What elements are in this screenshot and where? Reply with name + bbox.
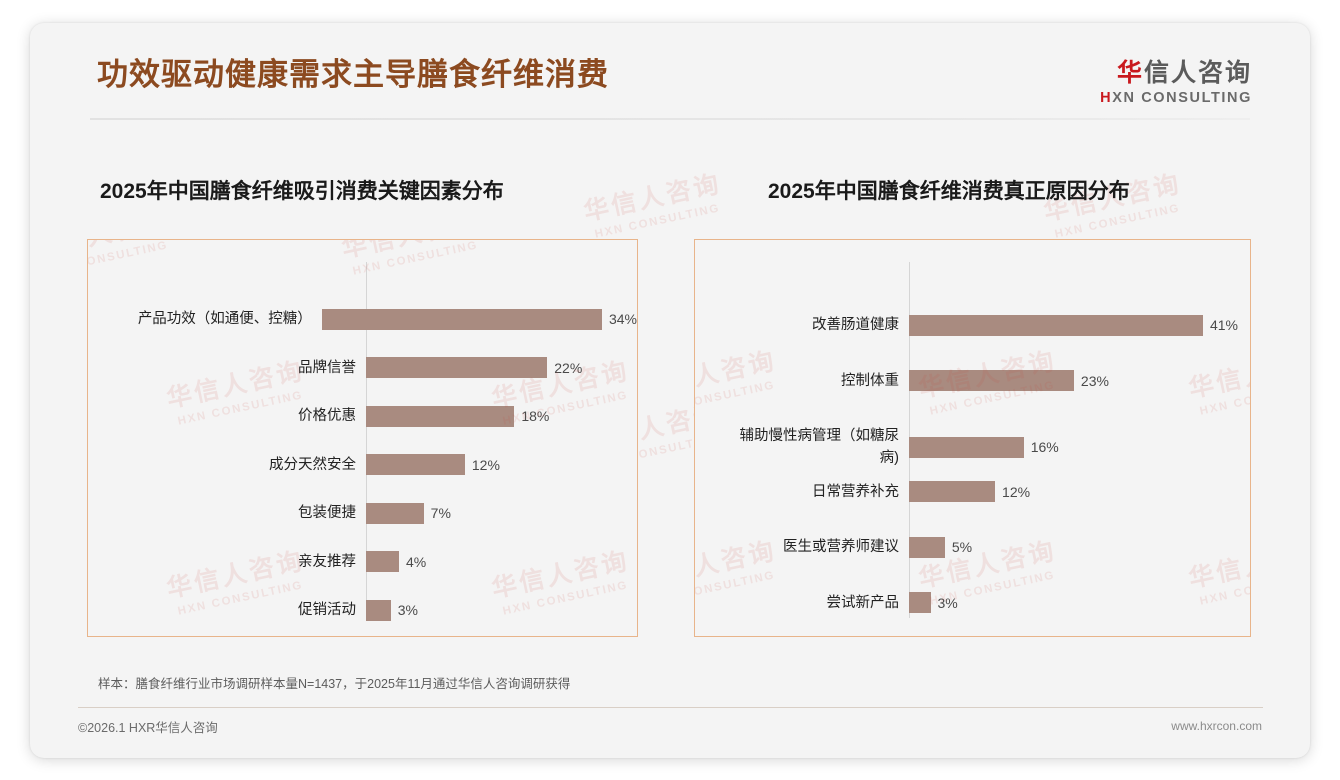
bar-track: 7% [366,503,637,524]
bar-chart-left: 产品功效（如通便、控糖）34%品牌信誉22%价格优惠18%成分天然安全12%包装… [88,240,637,636]
bar-track: 41% [909,315,1250,336]
bar-track: 5% [909,537,1250,558]
bar-value-label: 12% [472,457,500,473]
bar-row: 亲友推荐4% [88,551,637,573]
bar-value-label: 4% [406,554,426,570]
bar-value-label: 7% [431,505,451,521]
bar-segment [366,454,465,475]
bar-category-label: 价格优惠 [88,405,366,427]
bar-segment [909,315,1203,336]
bar-category-label: 辅助慢性病管理（如糖尿 病) [695,425,909,470]
bar-segment [366,600,391,621]
company-logo: 华信人咨询 HXN CONSULTING [1100,59,1252,106]
bar-row: 价格优惠18% [88,405,637,427]
bar-category-label: 成分天然安全 [88,454,366,476]
bar-row: 产品功效（如通便、控糖）34% [88,308,637,330]
bar-segment [366,357,547,378]
bar-track: 3% [909,592,1250,613]
footer-copyright: ©2026.1 HXR华信人咨询 [78,717,218,736]
bar-category-label: 尝试新产品 [695,592,909,614]
bar-category-label: 改善肠道健康 [695,314,909,336]
bar-row: 控制体重23% [695,370,1250,392]
bar-track: 22% [366,357,637,378]
bar-value-label: 3% [398,602,418,618]
bar-track: 4% [366,551,637,572]
chart-panel-right: 改善肠道健康41%控制体重23%辅助慢性病管理（如糖尿 病)16%日常营养补充1… [694,239,1251,637]
bar-category-label: 控制体重 [695,370,909,392]
watermark-chinese: 华信人咨询 [580,164,724,228]
bar-segment [366,551,399,572]
bar-row: 成分天然安全12% [88,454,637,476]
bar-segment [909,437,1024,458]
bar-row: 改善肠道健康41% [695,314,1250,336]
bar-value-label: 22% [554,360,582,376]
logo-cn-red: 华 [1117,59,1144,87]
bar-row: 促销活动3% [88,599,637,621]
bar-value-label: 16% [1031,439,1059,455]
bar-segment [366,503,424,524]
bar-category-label: 品牌信誉 [88,357,366,379]
bar-chart-right: 改善肠道健康41%控制体重23%辅助慢性病管理（如糖尿 病)16%日常营养补充1… [695,240,1250,636]
bar-row: 包装便捷7% [88,502,637,524]
bar-row: 品牌信誉22% [88,357,637,379]
bar-segment [366,406,514,427]
logo-english: HXN CONSULTING [1100,90,1252,106]
bar-value-label: 5% [952,539,972,555]
watermark: 华信人咨询HXN CONSULTING [580,164,727,242]
bar-track: 3% [366,600,637,621]
slide-header: 功效驱动健康需求主导膳食纤维消费 华信人咨询 HXN CONSULTING [30,23,1310,117]
bar-category-label: 医生或营养师建议 [695,536,909,558]
bar-value-label: 3% [938,595,958,611]
bar-category-label: 包装便捷 [88,502,366,524]
slide-card: 华信人咨询HXN CONSULTING华信人咨询HXN CONSULTING华信… [30,23,1310,758]
bar-row: 医生或营养师建议5% [695,536,1250,558]
bar-segment [909,370,1074,391]
header-divider [90,118,1250,120]
bar-value-label: 23% [1081,373,1109,389]
bar-value-label: 12% [1002,484,1030,500]
bar-segment [909,537,945,558]
bar-category-label: 促销活动 [88,599,366,621]
bar-segment [909,481,995,502]
bar-track: 18% [366,406,637,427]
bar-category-label: 日常营养补充 [695,481,909,503]
logo-cn-gray: 信人咨询 [1144,59,1252,87]
chart-panel-left: 产品功效（如通便、控糖）34%品牌信誉22%价格优惠18%成分天然安全12%包装… [87,239,638,637]
bar-segment [322,309,602,330]
bar-value-label: 41% [1210,317,1238,333]
bar-row: 日常营养补充12% [695,481,1250,503]
bar-category-label: 亲友推荐 [88,551,366,573]
source-note: 样本：膳食纤维行业市场调研样本量N=1437，于2025年11月通过华信人咨询调… [98,673,570,692]
chart-title-left: 2025年中国膳食纤维吸引消费关键因素分布 [100,175,504,205]
bar-track: 34% [322,309,637,330]
bar-track: 16% [909,437,1250,458]
bar-track: 12% [366,454,637,475]
footer-divider [78,707,1263,708]
page-title: 功效驱动健康需求主导膳食纤维消费 [97,49,609,94]
bar-row: 辅助慢性病管理（如糖尿 病)16% [695,425,1250,470]
bar-row: 尝试新产品3% [695,592,1250,614]
bar-value-label: 18% [521,408,549,424]
bar-track: 23% [909,370,1250,391]
watermark-english: HXN CONSULTING [1054,201,1188,241]
footer-website[interactable]: www.hxrcon.com [1171,719,1262,733]
chart-title-right: 2025年中国膳食纤维消费真正原因分布 [768,175,1130,205]
bar-track: 12% [909,481,1250,502]
logo-en-rest: XN CONSULTING [1112,90,1252,106]
bar-category-label: 产品功效（如通便、控糖） [88,308,322,330]
bar-segment [909,592,931,613]
logo-en-red: H [1100,90,1112,106]
bar-value-label: 34% [609,311,637,327]
watermark-english: HXN CONSULTING [594,201,728,241]
logo-chinese: 华信人咨询 [1100,59,1252,88]
